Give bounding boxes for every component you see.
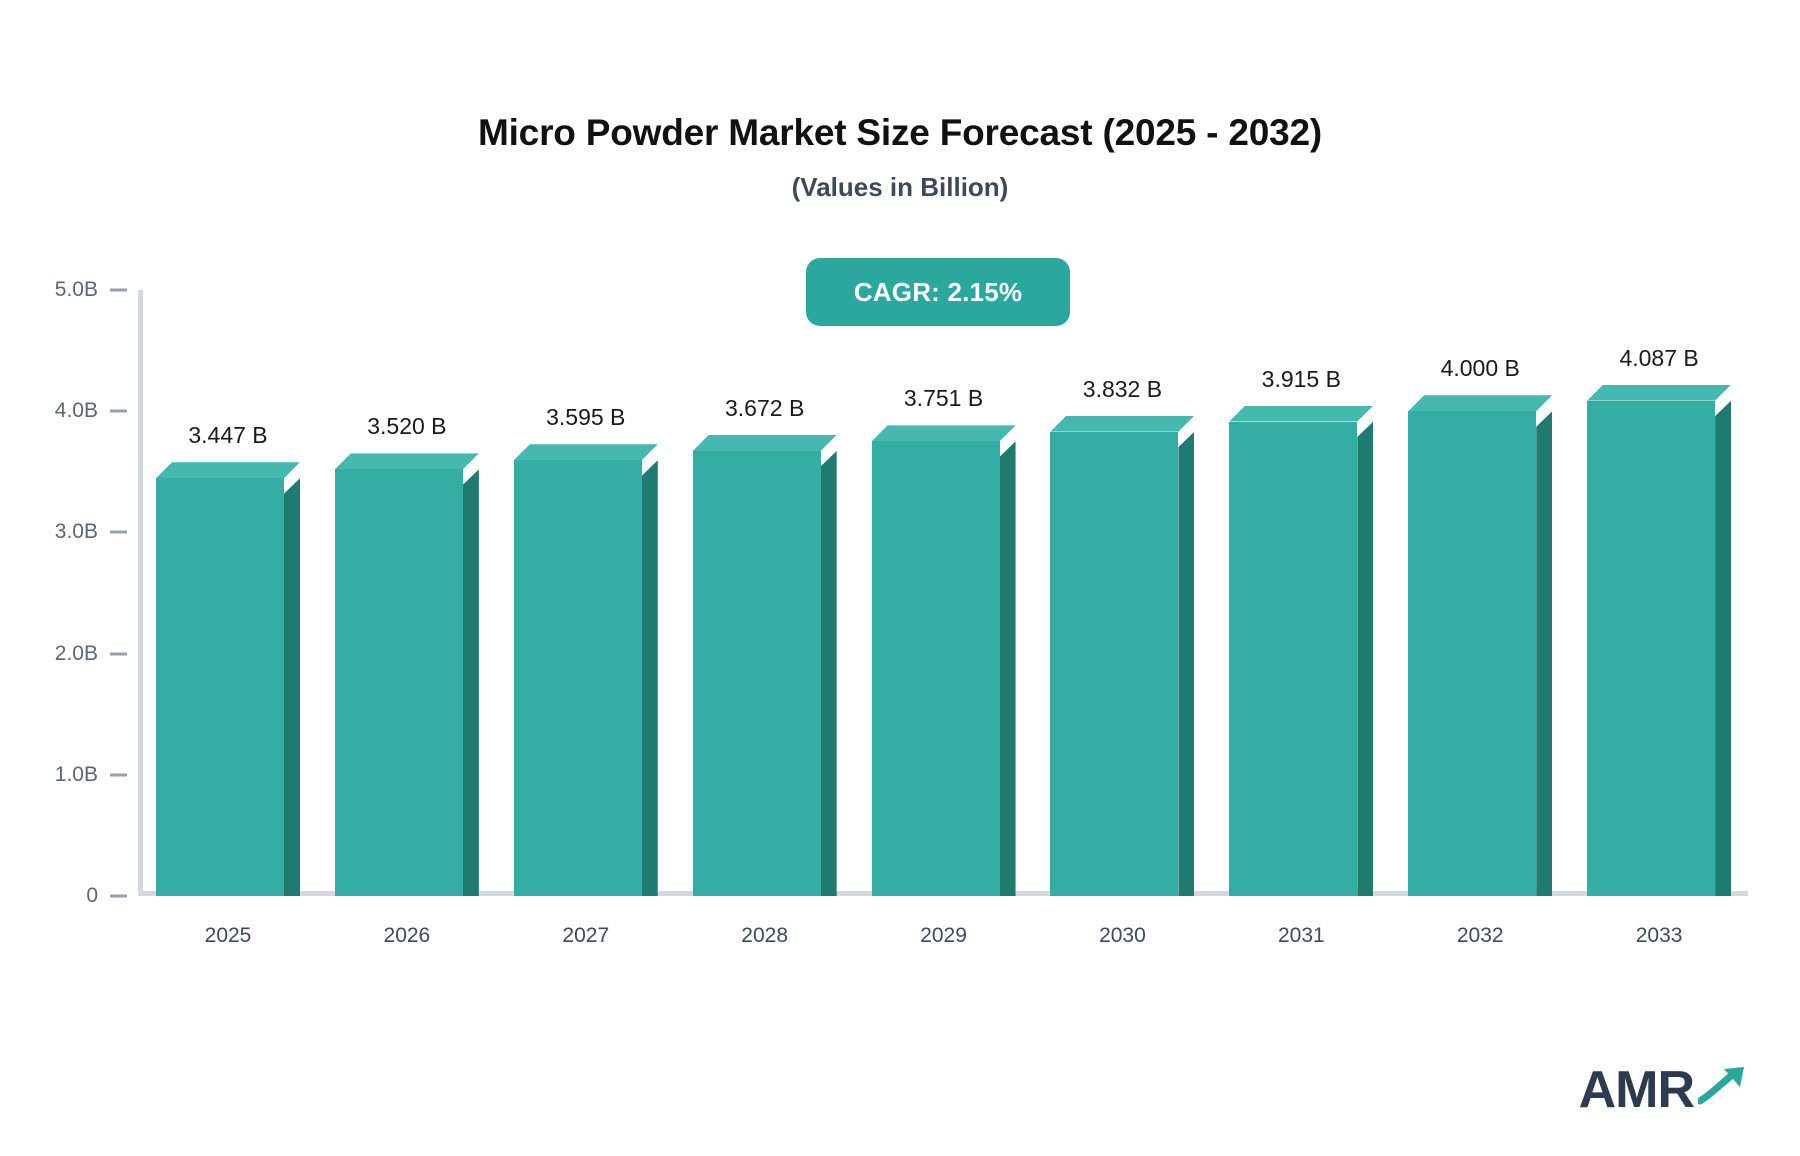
bar-top-face: [1229, 406, 1373, 422]
bar-front-face: [1408, 411, 1536, 896]
x-axis-tick-label: 2026: [315, 924, 499, 948]
bar-side-face: [821, 451, 837, 896]
bar-value-label: 3.672 B: [673, 395, 857, 422]
y-axis-tick-label: 5.0B: [12, 278, 98, 302]
y-axis-line: [138, 290, 143, 896]
amr-logo-text: AMR: [1579, 1064, 1694, 1116]
y-axis-tick-mark: [110, 773, 127, 776]
amr-logo: AMR: [1579, 1064, 1748, 1116]
y-axis-tick-mark: [110, 289, 127, 292]
bar-top-face: [156, 462, 300, 478]
bar-value-label: 4.087 B: [1567, 345, 1751, 372]
bar-top-face: [872, 425, 1016, 441]
bar-top-face: [693, 435, 837, 451]
y-axis-tick-label: 4.0B: [12, 399, 98, 423]
bar-value-label: 3.595 B: [494, 404, 678, 431]
bar-front-face: [693, 451, 821, 896]
x-axis-tick-label: 2031: [1209, 924, 1393, 948]
bar-front-face: [1229, 422, 1357, 896]
bar-front-face: [1587, 401, 1715, 896]
bar-side-face: [284, 478, 300, 896]
x-axis-tick-label: 2025: [136, 924, 320, 948]
bar-front-face: [1050, 432, 1178, 896]
x-axis-tick-label: 2027: [494, 924, 678, 948]
bar-value-label: 4.000 B: [1388, 355, 1572, 382]
bar-side-face: [1178, 432, 1194, 896]
y-axis-tick-label: 0: [12, 884, 98, 908]
bar-top-face: [514, 444, 658, 460]
chart-subtitle: (Values in Billion): [0, 172, 1800, 203]
bar[interactable]: [872, 425, 1016, 896]
bar[interactable]: [1587, 385, 1731, 896]
bar-side-face: [1000, 441, 1016, 896]
bar-front-face: [872, 441, 1000, 896]
chart-container: Micro Powder Market Size Forecast (2025 …: [0, 0, 1800, 1156]
y-axis-tick-mark: [110, 410, 127, 413]
y-axis-tick-label: 1.0B: [12, 763, 98, 787]
bar[interactable]: [1229, 406, 1373, 896]
bar-top-face: [1050, 416, 1194, 432]
chart-title: Micro Powder Market Size Forecast (2025 …: [0, 112, 1800, 154]
bar-value-label: 3.751 B: [852, 385, 1036, 412]
bar-value-label: 3.915 B: [1209, 366, 1393, 393]
bar-value-label: 3.832 B: [1030, 376, 1214, 403]
y-axis-tick-mark: [110, 531, 127, 534]
bar[interactable]: [156, 462, 300, 896]
bar-top-face: [335, 453, 479, 469]
bar-side-face: [1357, 422, 1373, 896]
y-axis-tick-label: 3.0B: [12, 520, 98, 544]
bar-value-label: 3.520 B: [315, 413, 499, 440]
bar-top-face: [1587, 385, 1731, 401]
bar[interactable]: [335, 453, 479, 896]
bar-front-face: [514, 460, 642, 896]
bar-front-face: [156, 478, 284, 896]
bar-side-face: [642, 460, 658, 896]
y-axis-tick-label: 2.0B: [12, 642, 98, 666]
bar-top-face: [1408, 395, 1552, 411]
y-axis-tick-mark: [110, 652, 127, 655]
x-axis-tick-label: 2033: [1567, 924, 1751, 948]
bar[interactable]: [693, 435, 837, 896]
bar[interactable]: [514, 444, 658, 896]
bar-side-face: [1715, 401, 1731, 896]
bar-value-label: 3.447 B: [136, 422, 320, 449]
bar-side-face: [1536, 411, 1552, 896]
bar-front-face: [335, 469, 463, 896]
x-axis-tick-label: 2030: [1030, 924, 1214, 948]
x-axis-tick-label: 2029: [852, 924, 1036, 948]
trending-up-arrow-icon: [1698, 1065, 1748, 1110]
bar[interactable]: [1050, 416, 1194, 896]
x-axis-tick-label: 2028: [673, 924, 857, 948]
y-axis-tick-mark: [110, 895, 127, 898]
bar[interactable]: [1408, 395, 1552, 896]
x-axis-tick-label: 2032: [1388, 924, 1572, 948]
bar-side-face: [463, 469, 479, 896]
